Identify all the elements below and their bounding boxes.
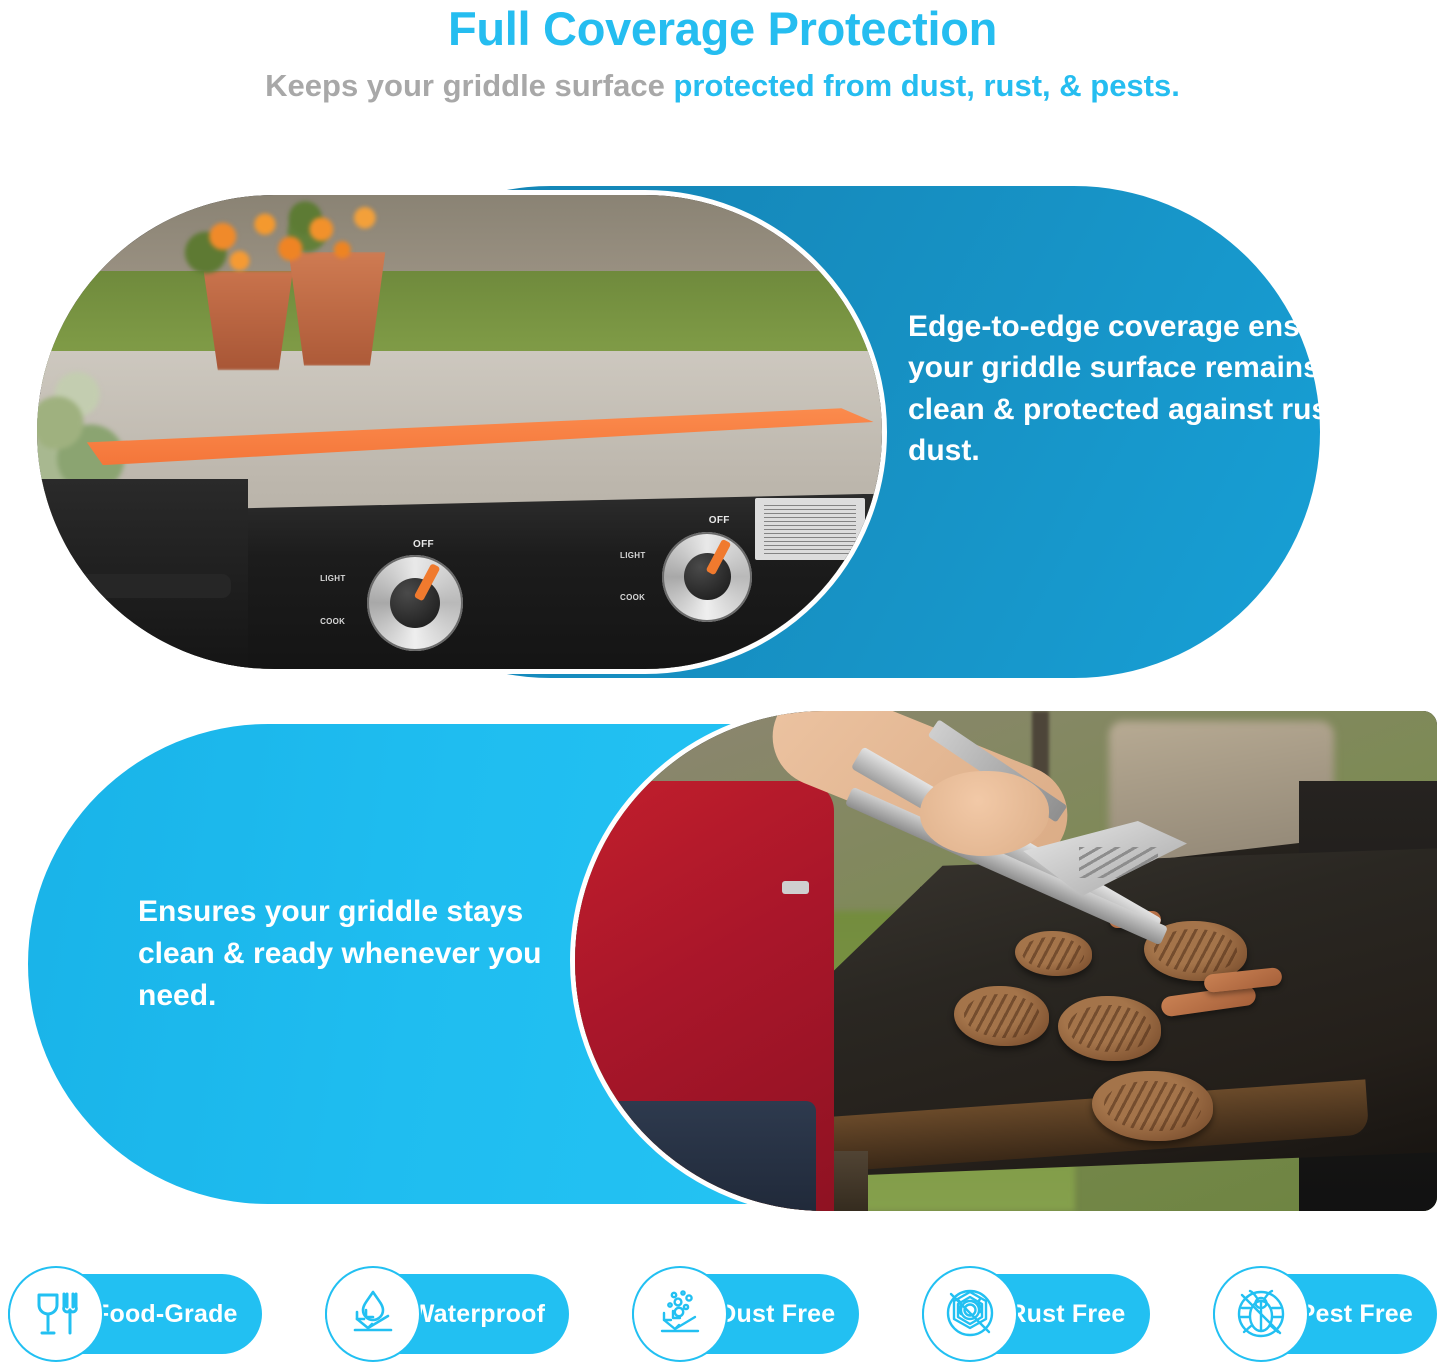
page-subtitle: Keeps your griddle surface protected fro… xyxy=(0,69,1445,103)
food-steak xyxy=(954,986,1049,1046)
badge-food-grade[interactable]: Food-Grade xyxy=(8,1266,262,1362)
subtitle-plain-text: Keeps your griddle surface xyxy=(265,68,673,103)
knob-label-cook-right: COOK xyxy=(620,593,645,603)
panel-two-caption: Ensures your griddle stays clean & ready… xyxy=(138,891,558,1017)
dust-free-icon xyxy=(632,1266,728,1362)
header: Full Coverage Protection Keeps your grid… xyxy=(0,0,1445,103)
person-hand-right xyxy=(920,771,1049,856)
subtitle-highlight-text: protected from dust, rust, & pests. xyxy=(673,68,1179,103)
burner-knob-left xyxy=(367,555,463,651)
griddle-handle xyxy=(45,574,231,598)
knob-label-light-right: LIGHT xyxy=(620,551,646,561)
badge-waterproof[interactable]: Waterproof xyxy=(325,1266,569,1362)
feature-panel-coverage: LIGHT COOK OFF LIGHT COOK OFF Edge-to-ed… xyxy=(0,186,1445,686)
knob-label-off-right: OFF xyxy=(709,515,730,528)
badge-label: Food-Grade xyxy=(94,1300,238,1329)
knob-label-light-left: LIGHT xyxy=(320,574,346,584)
knob-label-off-left: OFF xyxy=(413,539,434,552)
cooking-scene xyxy=(575,711,1437,1211)
feature-panel-clean-ready: Ensures your griddle stays clean & ready… xyxy=(0,706,1445,1216)
griddle-warning-label xyxy=(755,498,865,560)
knob-label-cook-left: COOK xyxy=(320,617,345,627)
badge-label: Rust Free xyxy=(1008,1300,1125,1329)
griddle-cover-photo: LIGHT COOK OFF LIGHT COOK OFF xyxy=(32,190,887,674)
badge-label: Pest Free xyxy=(1299,1300,1413,1329)
feature-badge-row: Food-Grade Waterproof xyxy=(0,1258,1445,1370)
panel-one-caption: Edge-to-edge coverage ensures your gridd… xyxy=(908,306,1378,472)
wedding-ring xyxy=(782,881,810,894)
knob-center xyxy=(684,553,731,600)
person-jeans xyxy=(592,1101,816,1216)
cooking-photo xyxy=(570,706,1442,1216)
badge-label: Dust Free xyxy=(718,1300,835,1329)
orange-flowers-right xyxy=(265,195,426,271)
pest-free-icon xyxy=(1213,1266,1309,1362)
badge-pest-free[interactable]: Pest Free xyxy=(1213,1266,1437,1362)
page-title: Full Coverage Protection xyxy=(0,4,1445,53)
patio-griddle-scene: LIGHT COOK OFF LIGHT COOK OFF xyxy=(37,195,882,669)
food-grade-icon xyxy=(8,1266,104,1362)
knob-center xyxy=(390,578,440,628)
waterproof-icon xyxy=(325,1266,421,1362)
rust-free-icon xyxy=(922,1266,1018,1362)
patio-chair xyxy=(662,195,848,337)
badge-label: Waterproof xyxy=(411,1300,545,1329)
burner-knob-right xyxy=(662,532,752,622)
badge-dust-free[interactable]: Dust Free xyxy=(632,1266,859,1362)
badge-rust-free[interactable]: Rust Free xyxy=(922,1266,1149,1362)
